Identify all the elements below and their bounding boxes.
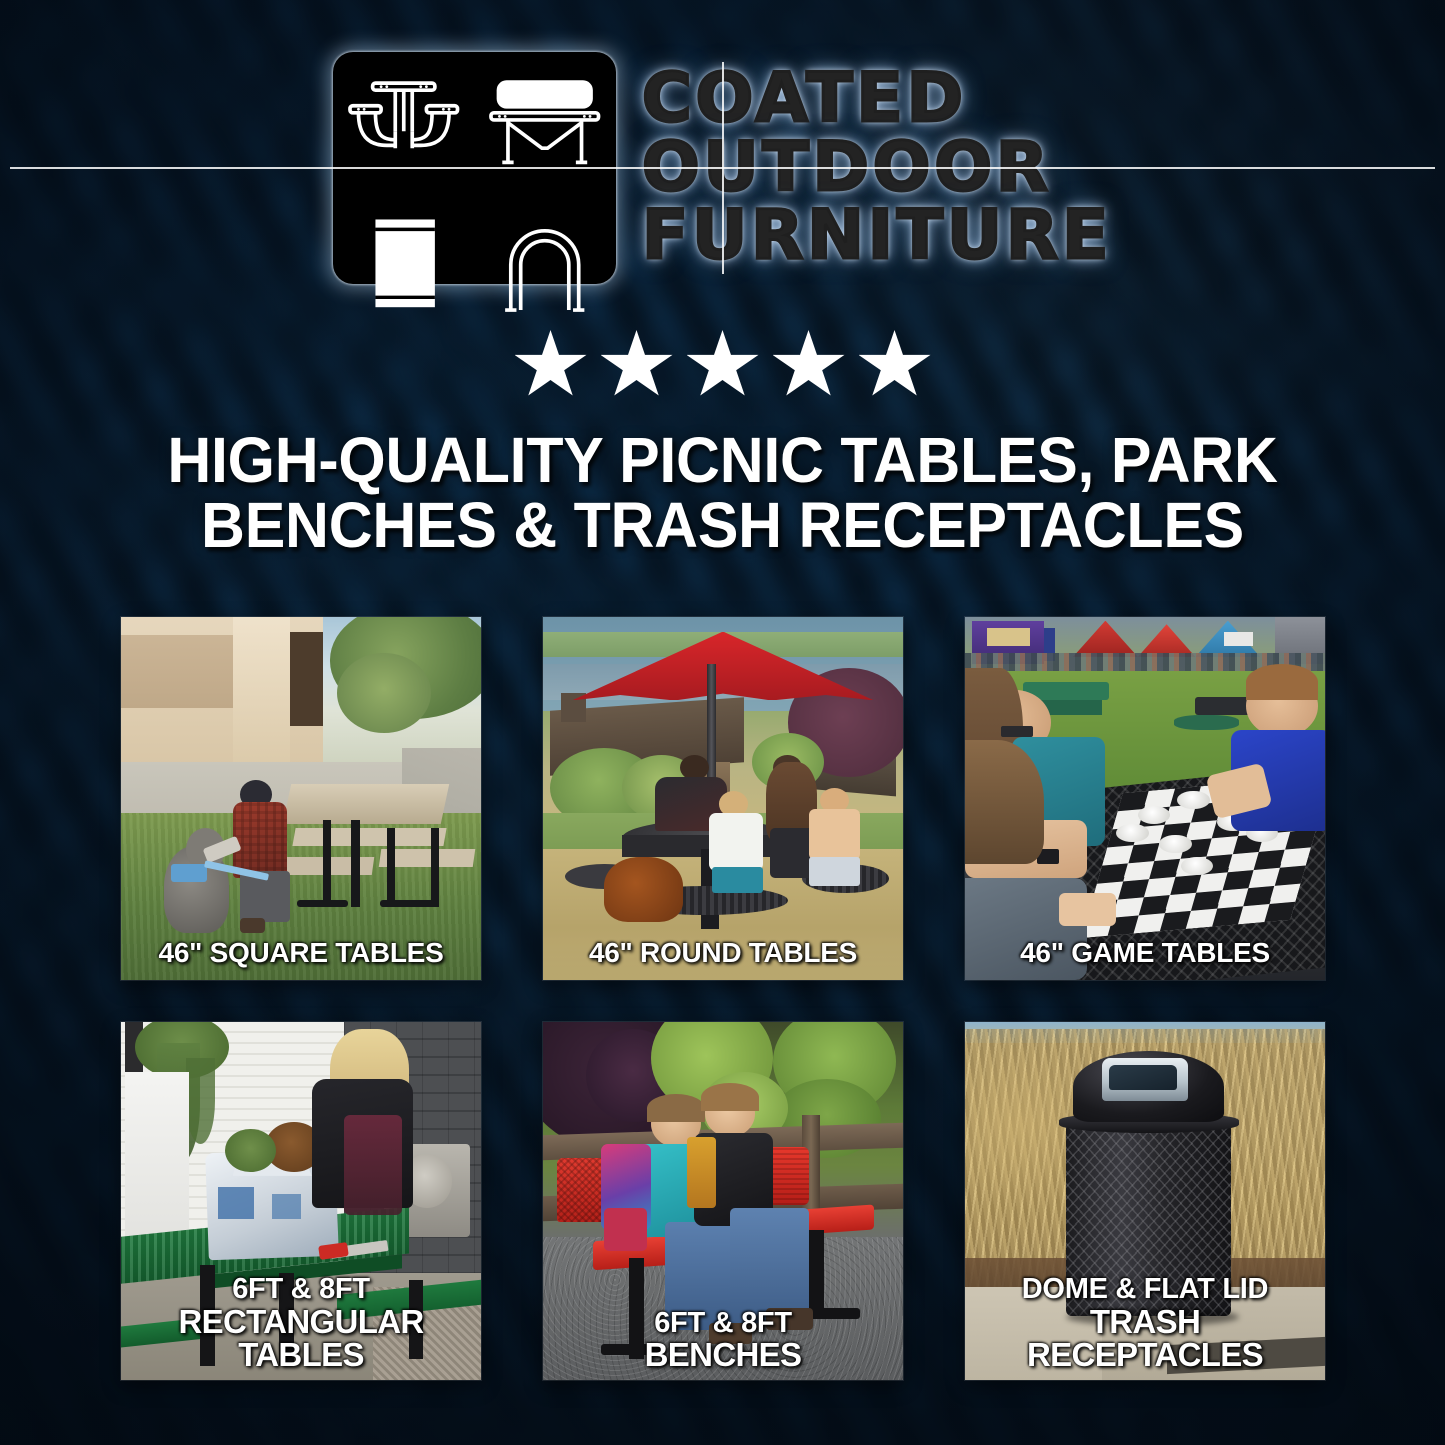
product-caption: 46" ROUND TABLES (549, 939, 897, 968)
product-tile-square-tables[interactable]: 46" SQUARE TABLES (121, 617, 481, 980)
headline: HIGH-QUALITY PICNIC TABLES, PARK BENCHES… (93, 428, 1352, 559)
product-photo-round-tables (543, 617, 903, 980)
logo-line-3: FURNITURE (642, 203, 1112, 270)
headline-line-1: HIGH-QUALITY PICNIC TABLES, PARK (93, 428, 1352, 493)
caption-line-2: BENCHES (549, 1338, 897, 1372)
bench-table-icon (474, 52, 616, 194)
product-tile-game-tables[interactable]: 46" GAME TABLES (965, 617, 1325, 980)
caption-line-1: 46" SQUARE TABLES (127, 939, 475, 968)
product-caption: DOME & FLAT LID TRASH RECEPTACLES (971, 1275, 1319, 1372)
rating-stars (0, 330, 1445, 400)
headline-line-2: BENCHES & TRASH RECEPTACLES (93, 493, 1352, 558)
brand-header: COATED OUTDOOR FURNITURE (0, 52, 1445, 284)
star-icon (515, 330, 587, 400)
product-tile-round-tables[interactable]: 46" ROUND TABLES (543, 617, 903, 980)
picnic-table-icon (333, 52, 475, 194)
caption-line-1: 46" GAME TABLES (971, 939, 1319, 968)
caption-line-1: 6FT & 8FT (549, 1309, 897, 1339)
caption-line-1: 6FT & 8FT (127, 1275, 475, 1305)
caption-line-2: RECTANGULAR TABLES (127, 1305, 475, 1372)
promotional-poster: COATED OUTDOOR FURNITURE HIGH-QUALITY PI… (0, 0, 1445, 1445)
star-icon (773, 330, 845, 400)
caption-line-2: TRASH RECEPTACLES (971, 1305, 1319, 1372)
caption-line-1: 46" ROUND TABLES (549, 939, 897, 968)
product-caption: 6FT & 8FT BENCHES (549, 1309, 897, 1372)
product-caption: 6FT & 8FT RECTANGULAR TABLES (127, 1275, 475, 1372)
product-tile-rectangular-tables[interactable]: 6FT & 8FT RECTANGULAR TABLES (121, 1022, 481, 1380)
product-photo-game-tables (965, 617, 1325, 980)
star-icon (859, 330, 931, 400)
product-caption: 46" SQUARE TABLES (127, 939, 475, 968)
star-icon (601, 330, 673, 400)
caption-line-1: DOME & FLAT LID (971, 1275, 1319, 1305)
trash-receptacle-icon (333, 194, 475, 336)
product-tile-benches[interactable]: 6FT & 8FT BENCHES (543, 1022, 903, 1380)
logo-line-1: COATED (642, 66, 1112, 133)
brand-logo-mark (333, 52, 616, 284)
bike-rack-icon (474, 194, 616, 336)
star-icon (687, 330, 759, 400)
product-photo-square-tables (121, 617, 481, 980)
product-caption: 46" GAME TABLES (971, 939, 1319, 968)
product-tile-trash-receptacles[interactable]: DOME & FLAT LID TRASH RECEPTACLES (965, 1022, 1325, 1380)
product-grid: 46" SQUARE TABLES (121, 617, 1325, 1380)
